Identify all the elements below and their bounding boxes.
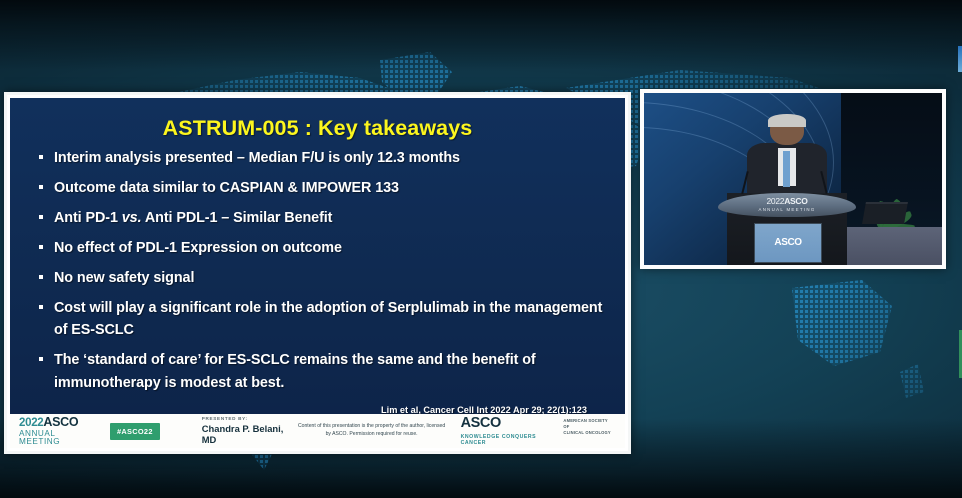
podium-subtitle: ANNUAL MEETING [758,207,815,212]
asco-tagline: KNOWLEDGE CONQUERS CANCER [461,434,560,446]
speaker-hair [768,114,805,127]
podium-screen-text: ASCO [774,237,801,248]
podium-year: 2022 [766,196,784,206]
bullet-item-4: No effect of PDL-1 Expression on outcome [54,237,609,260]
asco-annual-meeting-logo: 2022ASCO ANNUAL MEETING [19,416,96,447]
logo-name: ASCO [43,415,78,429]
bullet-square-icon [39,155,43,159]
bullet-text-italic: vs. [122,210,142,226]
presented-by-block: PRESENTED BY: Chandra P. Belani, MD [202,416,297,446]
slide-footer-bar: 2022ASCO ANNUAL MEETING #ASCO22 PRESENTE… [10,414,625,448]
podium-brand: ASCO [784,196,807,206]
bullet-item-2: Outcome data similar to CASPIAN & IMPOWE… [54,177,609,200]
bullet-item-6: Cost will play a significant role in the… [54,297,609,343]
bullet-square-icon [39,245,43,249]
bullet-square-icon [39,357,43,361]
bullet-text-post: Anti PDL-1 – Similar Benefit [141,210,332,226]
bullet-square-icon [39,305,43,309]
presenter-name: Chandra P. Belani, MD [202,424,297,446]
bullet-text: No effect of PDL-1 Expression on outcome [54,240,342,256]
presented-by-label: PRESENTED BY: [202,416,297,421]
hashtag-badge: #ASCO22 [110,423,160,440]
slide-body: ASTRUM-005 : Key takeaways Interim analy… [10,98,625,420]
offscreen-ui-sliver-top[interactable] [958,46,962,72]
side-table [835,227,942,265]
bullet-text: The ‘standard of care’ for ES-SCLC remai… [54,352,536,391]
rights-notice: Content of this presentation is the prop… [297,423,447,438]
speaker-video-panel[interactable]: 2022ASCO ANNUAL MEETING ASCO [640,89,946,269]
bullet-square-icon [39,275,43,279]
bullet-item-1: Interim analysis presented – Median F/U … [54,147,609,170]
speaker-figure [751,115,823,198]
podium-banner: 2022ASCO ANNUAL MEETING [718,193,856,217]
bullet-text: No new safety signal [54,270,194,286]
bullet-text-pre: Anti PD-1 [54,210,122,226]
slide-title: ASTRUM-005 : Key takeaways [10,116,625,141]
bullet-text: Interim analysis presented – Median F/U … [54,150,460,166]
podium: 2022ASCO ANNUAL MEETING ASCO [727,193,846,265]
speaker-tie [783,151,789,187]
bullet-item-5: No new safety signal [54,267,609,290]
asco-wordmark: ASCO [461,416,560,431]
asco-society-line2: CLINICAL ONCOLOGY [563,430,613,436]
podium-screen: ASCO [754,223,823,263]
bullet-item-3: Anti PD-1 vs. Anti PDL-1 – Similar Benef… [54,207,609,230]
logo-year: 2022 [19,417,43,429]
bullet-item-7: The ‘standard of care’ for ES-SCLC remai… [54,349,609,395]
slide-bullet-list: Interim analysis presented – Median F/U … [10,147,625,395]
asco-org-logo: ASCO KNOWLEDGE CONQUERS CANCER AMERICAN … [461,416,613,446]
bullet-text: Cost will play a significant role in the… [54,300,602,339]
laptop [862,202,908,224]
asco-society-name: AMERICAN SOCIETY OF CLINICAL ONCOLOGY [563,416,613,436]
bullet-square-icon [39,215,43,219]
presentation-slide[interactable]: ASTRUM-005 : Key takeaways Interim analy… [4,92,631,454]
asco-society-line1: AMERICAN SOCIETY OF [563,418,613,430]
logo-subtitle: ANNUAL MEETING [19,430,96,446]
bullet-text: Outcome data similar to CASPIAN & IMPOWE… [54,180,399,196]
video-frame: 2022ASCO ANNUAL MEETING ASCO [644,93,942,265]
bullet-square-icon [39,185,43,189]
